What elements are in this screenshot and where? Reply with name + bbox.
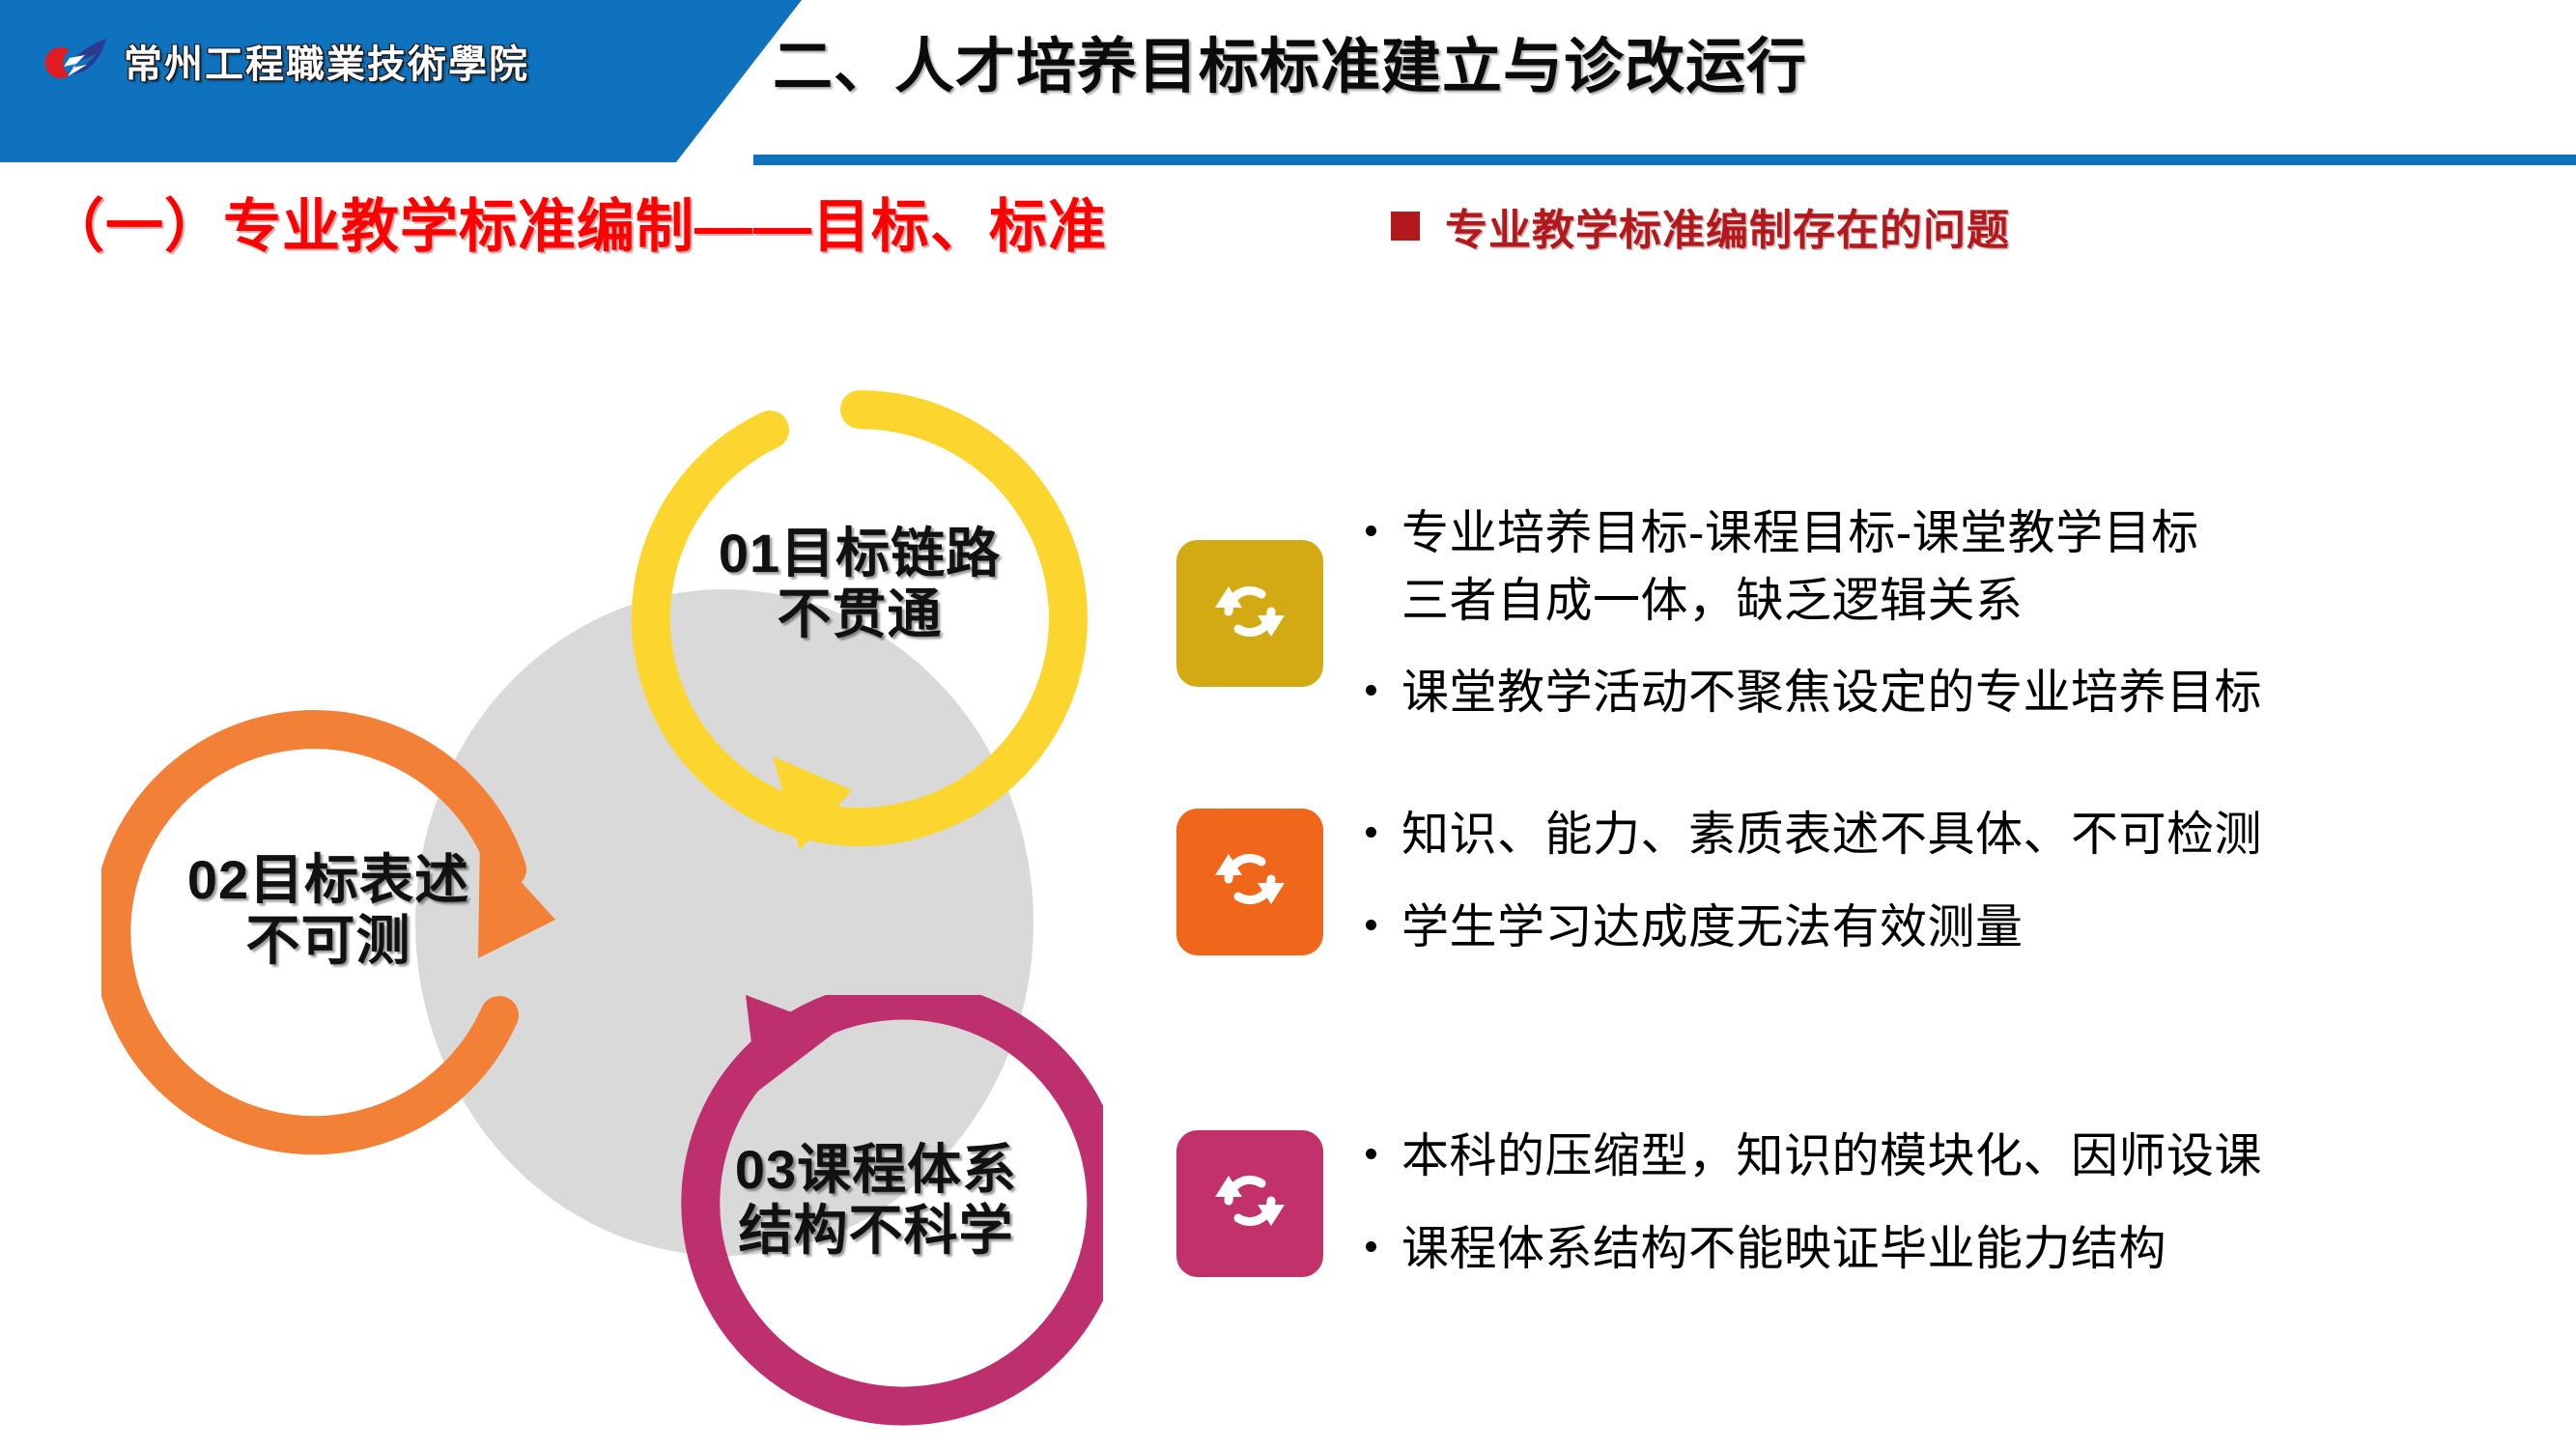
section-topic-label: 专业教学标准编制存在的问题 [1445, 195, 2010, 257]
swoosh-emblem-icon [41, 31, 110, 91]
ring-03-course-system: 03课程体系 结构不科学 [649, 995, 1103, 1449]
issue-row-2: 知识、能力、素质表述不具体、不可检测 学生学习达成度无法有效测量 [1176, 802, 2262, 961]
bullet-dot-icon [1366, 920, 1376, 930]
list-item: 课程体系结构不能映证毕业能力结构 [1366, 1216, 2262, 1284]
page-title: 二、人才培养目标标准建立与诊改运行 [773, 17, 1807, 104]
ring-03-shape [649, 995, 1103, 1449]
slide-canvas: 常州工程職業技術學院 二、人才培养目标标准建立与诊改运行 （一）专业教学标准编制… [0, 0, 2576, 1450]
refresh-cycle-icon [1205, 1156, 1294, 1250]
bullet-dot-icon [1366, 1149, 1376, 1159]
bullet-dot-icon [1366, 685, 1376, 696]
refresh-cycle-tile-2 [1176, 809, 1323, 955]
bullet-text: 专业培养目标-课程目标-课堂教学目标 三者自成一体，缺乏逻辑关系 [1401, 500, 2199, 635]
ring-01-shape [628, 386, 1091, 850]
ring-02-shape [101, 705, 555, 1159]
institution-name: 常州工程職業技術學院 [124, 33, 529, 89]
refresh-cycle-icon [1205, 567, 1294, 661]
bullet-text: 课堂教学活动不聚焦设定的专业培养目标 [1401, 660, 2262, 727]
issue-row-3: 本科的压缩型，知识的模块化、因师设课 课程体系结构不能映证毕业能力结构 [1176, 1123, 2262, 1283]
institution-logo: 常州工程職業技術學院 [41, 27, 529, 95]
issue-row-1-bullets: 专业培养目标-课程目标-课堂教学目标 三者自成一体，缺乏逻辑关系 课堂教学活动不… [1366, 500, 2262, 727]
bullet-dot-icon [1366, 827, 1376, 838]
bullet-text: 课程体系结构不能映证毕业能力结构 [1401, 1216, 2166, 1284]
list-item: 本科的压缩型，知识的模块化、因师设课 [1366, 1123, 2262, 1191]
bullet-text: 本科的压缩型，知识的模块化、因师设课 [1401, 1123, 2262, 1191]
list-item: 课堂教学活动不聚焦设定的专业培养目标 [1366, 660, 2262, 727]
section-subtitle: （一）专业教学标准编制——目标、标准 [46, 180, 1107, 264]
issue-row-1: 专业培养目标-课程目标-课堂教学目标 三者自成一体，缺乏逻辑关系 课堂教学活动不… [1176, 500, 2262, 727]
list-item: 知识、能力、素质表述不具体、不可检测 [1366, 802, 2262, 869]
ring-01-goal-chain: 01目标链路 不贯通 [628, 386, 1091, 850]
bullet-text: 学生学习达成度无法有效测量 [1401, 895, 2024, 962]
list-item: 学生学习达成度无法有效测量 [1366, 895, 2262, 962]
refresh-cycle-tile-1 [1176, 540, 1323, 687]
issue-row-3-bullets: 本科的压缩型，知识的模块化、因师设课 课程体系结构不能映证毕业能力结构 [1366, 1123, 2262, 1283]
section-topic: 专业教学标准编制存在的问题 [1391, 195, 2010, 257]
ring-02-goal-statement: 02目标表述 不可测 [101, 705, 555, 1159]
issue-row-2-bullets: 知识、能力、素质表述不具体、不可检测 学生学习达成度无法有效测量 [1366, 802, 2262, 961]
refresh-cycle-icon [1205, 835, 1294, 928]
header-divider-rule [753, 155, 2576, 165]
square-bullet-icon [1391, 212, 1420, 241]
bullet-dot-icon [1366, 1241, 1376, 1252]
list-item: 专业培养目标-课程目标-课堂教学目标 三者自成一体，缺乏逻辑关系 [1366, 500, 2262, 635]
refresh-cycle-tile-3 [1176, 1130, 1323, 1277]
bullet-text: 知识、能力、素质表述不具体、不可检测 [1401, 802, 2262, 869]
bullet-dot-icon [1366, 526, 1376, 536]
